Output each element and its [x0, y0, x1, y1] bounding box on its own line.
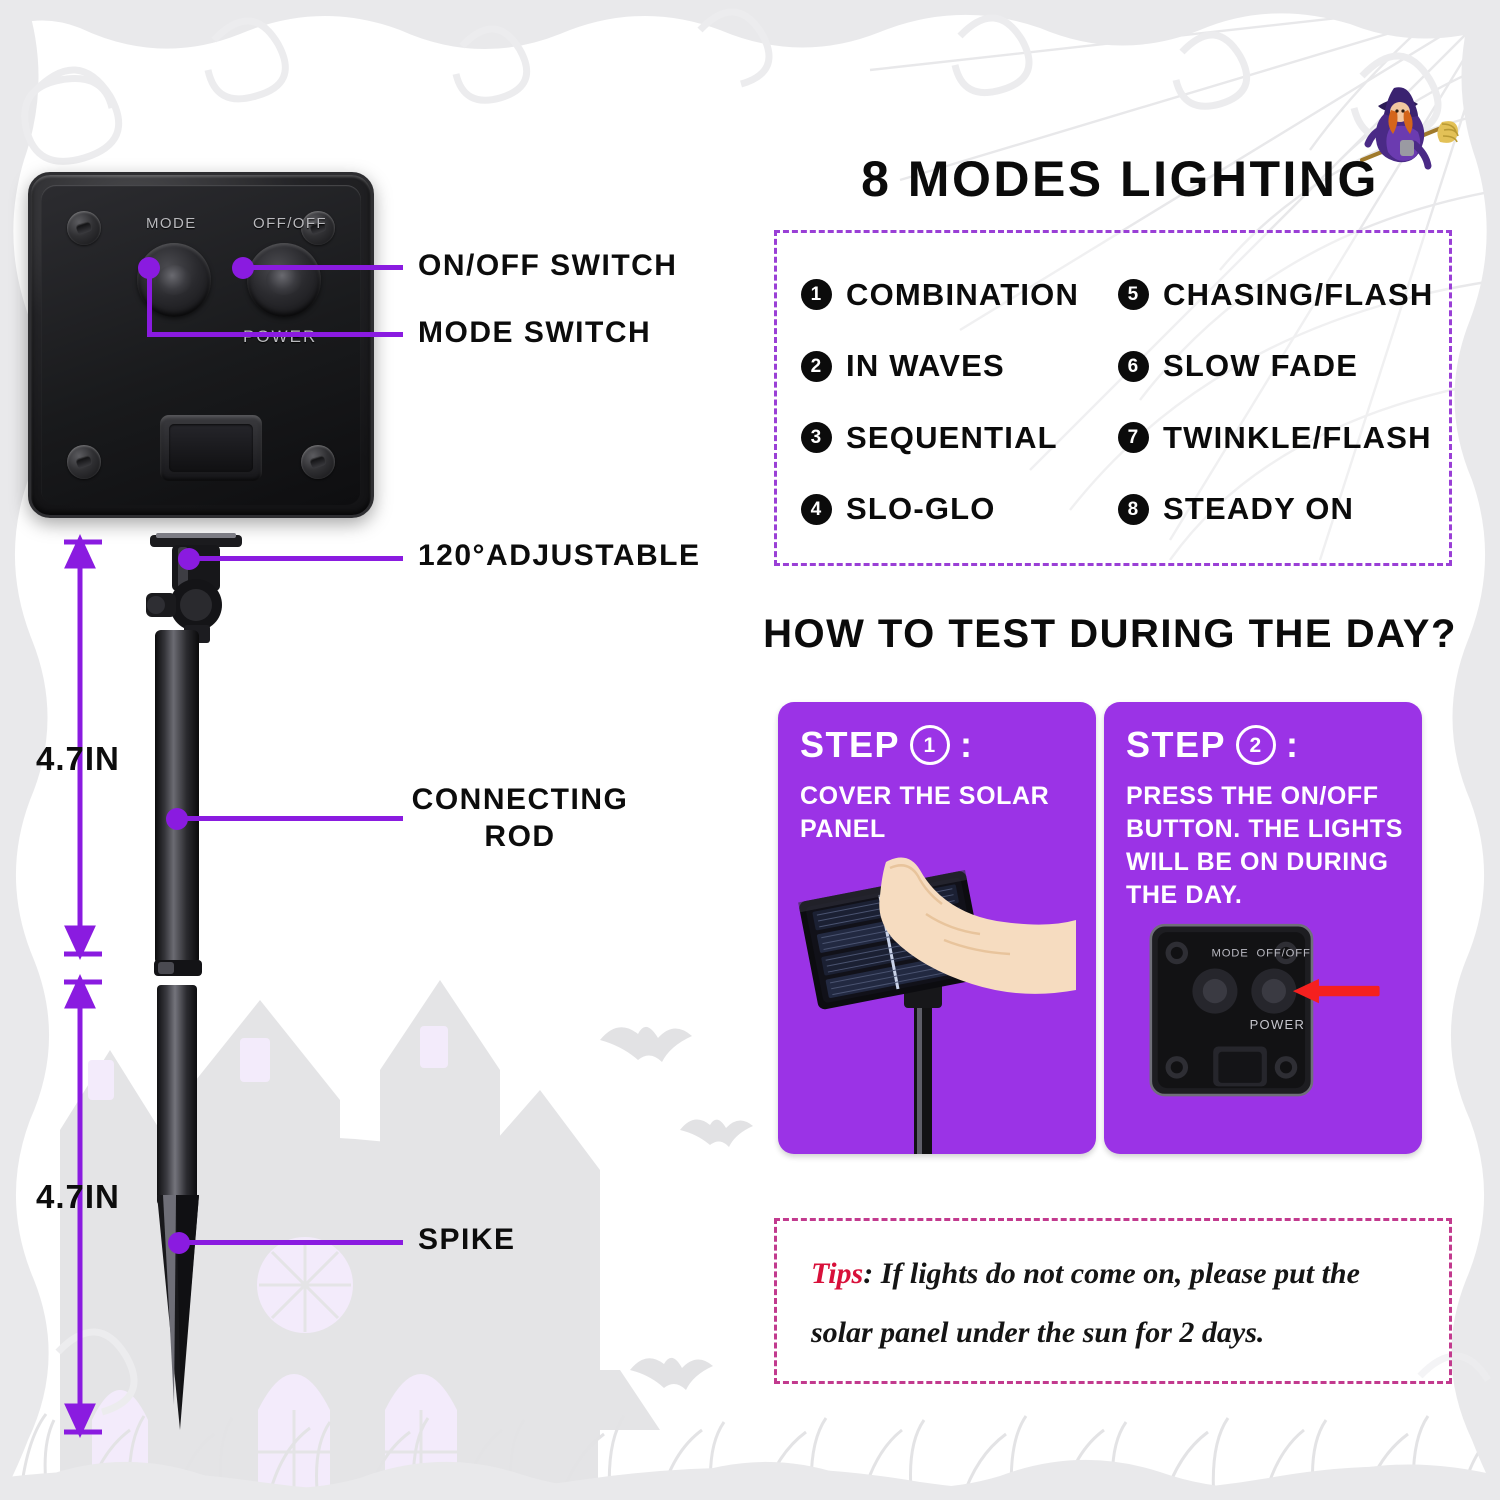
step-2-title: STEP 2 :: [1126, 724, 1300, 766]
screw-icon: [67, 445, 101, 479]
tips-body: : If lights do not come on, please put t…: [811, 1257, 1360, 1349]
callout-spike: SPIKE: [418, 1222, 516, 1259]
callout-line-spike: [179, 1240, 403, 1245]
callout-line-mode-vertical: [147, 268, 152, 335]
modes-section-title: 8 MODES LIGHTING: [800, 150, 1440, 208]
mode-label: COMBINATION: [846, 277, 1079, 313]
mode-number-icon: 3: [801, 422, 832, 453]
mode-label: SLOW FADE: [1163, 348, 1358, 384]
mode-item-7: 7 TWINKLE/FLASH: [1118, 402, 1435, 474]
infographic-page: MODE OFF/OFF POWER: [0, 0, 1500, 1500]
callout-line-rod: [177, 816, 403, 821]
modes-grid: 1 COMBINATION 5 CHASING/FLASH 2 IN WAVES…: [801, 259, 1435, 545]
battery-compartment: [160, 415, 262, 481]
mode-text-label: MODE: [146, 215, 197, 232]
control-panel-face: MODE OFF/OFF POWER: [41, 185, 361, 505]
callout-connecting-rod: CONNECTING ROD: [400, 782, 640, 855]
mode-item-2: 2 IN WAVES: [801, 331, 1118, 403]
step-1-number-icon: 1: [910, 725, 950, 765]
svg-text:OFF/OFF: OFF/OFF: [1257, 947, 1311, 959]
tips-box: Tips: If lights do not come on, please p…: [774, 1218, 1452, 1384]
step-2-title-text: STEP: [1126, 724, 1226, 766]
info-column: 8 MODES LIGHTING 1 COMBINATION 5 CHASING…: [760, 0, 1500, 1500]
callout-line-mode: [147, 332, 403, 337]
mode-item-5: 5 CHASING/FLASH: [1118, 259, 1435, 331]
onoff-text-label: OFF/OFF: [253, 215, 327, 232]
mode-label: SLO-GLO: [846, 491, 996, 527]
product-diagram-column: MODE OFF/OFF POWER: [0, 0, 760, 1500]
spike-tip: [150, 1195, 206, 1430]
callout-on-off-switch: ON/OFF SWITCH: [418, 248, 677, 285]
mode-number-icon: 2: [801, 351, 832, 382]
power-button[interactable]: [247, 243, 321, 317]
tips-content: Tips: If lights do not come on, please p…: [811, 1245, 1425, 1362]
spike-shaft: [157, 985, 197, 1205]
screw-icon: [67, 211, 101, 245]
dimension-bars: [56, 530, 102, 1440]
mode-number-icon: 8: [1118, 494, 1149, 525]
step-2-body: PRESS THE ON/OFF BUTTON. THE LIGHTS WILL…: [1126, 780, 1406, 912]
dimension-rod-length: 4.7IN: [36, 740, 120, 778]
mode-number-icon: 7: [1118, 422, 1149, 453]
mode-number-icon: 1: [801, 279, 832, 310]
mode-item-8: 8 STEADY ON: [1118, 474, 1435, 546]
step-1-body: COVER THE SOLAR PANEL: [800, 780, 1080, 846]
svg-text:POWER: POWER: [1250, 1017, 1306, 1032]
power-text-label: POWER: [243, 327, 317, 347]
mode-number-icon: 4: [801, 494, 832, 525]
step-1-title-text: STEP: [800, 724, 900, 766]
step-card-2: STEP 2 : PRESS THE ON/OFF BUTTON. THE LI…: [1104, 702, 1422, 1154]
callout-line-onoff: [243, 265, 403, 270]
mode-item-6: 6 SLOW FADE: [1118, 331, 1435, 403]
callout-adjustable: 120°ADJUSTABLE: [418, 538, 701, 575]
callout-line-adjustable: [189, 556, 403, 561]
svg-text:MODE: MODE: [1211, 947, 1248, 959]
mode-number-icon: 6: [1118, 351, 1149, 382]
mode-label: SEQUENTIAL: [846, 420, 1058, 456]
mode-label: STEADY ON: [1163, 491, 1354, 527]
callout-mode-switch: MODE SWITCH: [418, 315, 651, 352]
step-1-title: STEP 1 :: [800, 724, 974, 766]
step-2-number-icon: 2: [1236, 725, 1276, 765]
step-2-colon: :: [1286, 724, 1300, 766]
test-section-title: HOW TO TEST DURING THE DAY?: [760, 612, 1460, 657]
cover-solar-panel-illustration: [778, 854, 1096, 1154]
mode-item-3: 3 SEQUENTIAL: [801, 402, 1118, 474]
control-panel-box: MODE OFF/OFF POWER: [28, 172, 374, 518]
modes-list-box: 1 COMBINATION 5 CHASING/FLASH 2 IN WAVES…: [774, 230, 1452, 566]
mode-item-1: 1 COMBINATION: [801, 259, 1118, 331]
dimension-spike-length: 4.7IN: [36, 1178, 120, 1216]
step-1-colon: :: [960, 724, 974, 766]
mode-number-icon: 5: [1118, 279, 1149, 310]
tips-label: Tips: [811, 1257, 863, 1290]
connecting-rod: [155, 630, 199, 965]
mode-label: TWINKLE/FLASH: [1163, 420, 1432, 456]
press-button-illustration: MODE OFF/OFF POWER: [1104, 894, 1380, 1154]
screw-icon: [301, 445, 335, 479]
mode-item-4: 4 SLO-GLO: [801, 474, 1118, 546]
adjustable-bracket: [146, 533, 246, 643]
step-card-1: STEP 1 : COVER THE SOLAR PANEL: [778, 702, 1096, 1154]
mode-label: CHASING/FLASH: [1163, 277, 1434, 313]
mode-label: IN WAVES: [846, 348, 1005, 384]
